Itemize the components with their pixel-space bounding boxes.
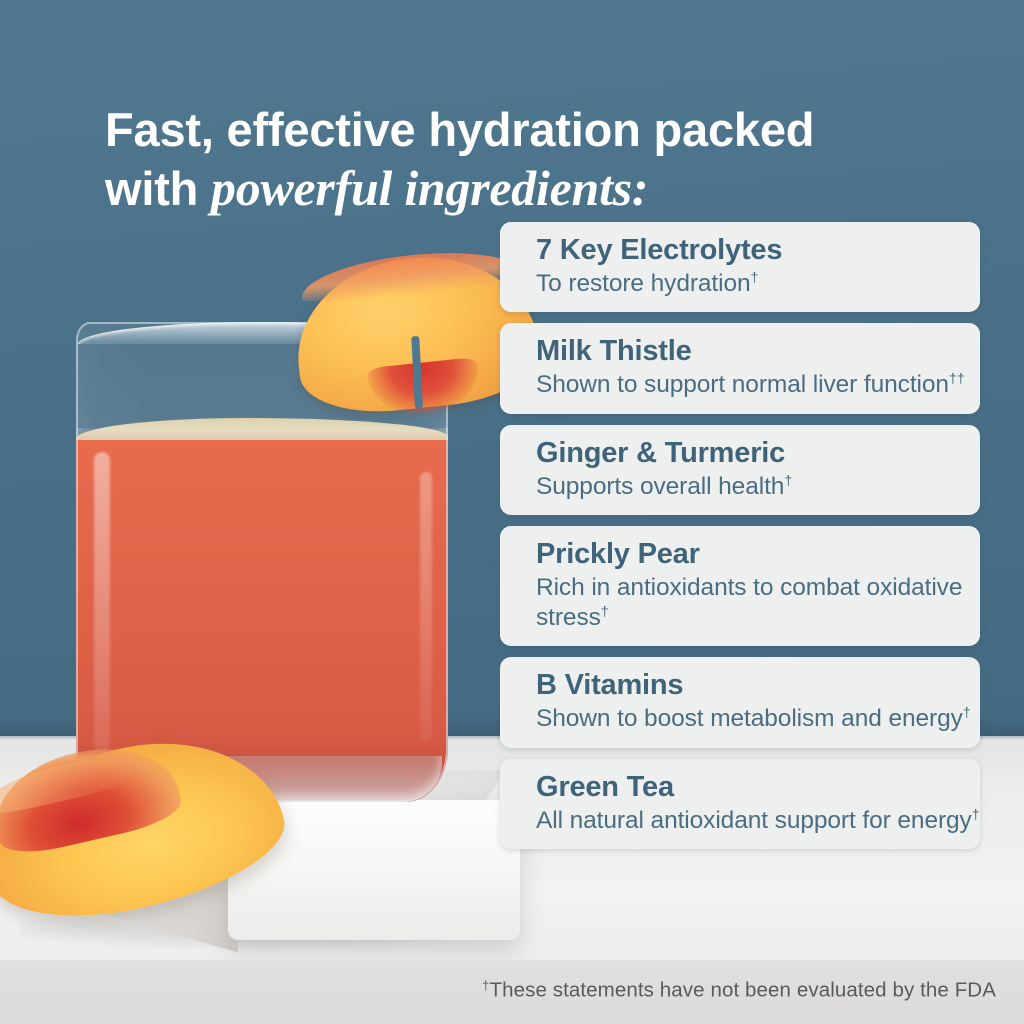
ingredient-title: Ginger & Turmeric (536, 437, 980, 470)
ingredient-description: All natural antioxidant support for ener… (536, 806, 980, 835)
ingredient-description: To restore hydration† (536, 269, 980, 298)
ingredient-card[interactable]: B Vitamins Shown to boost metabolism and… (500, 657, 980, 747)
ingredient-footnote-marker: † (601, 604, 609, 620)
ingredient-title: 7 Key Electrolytes (536, 234, 980, 267)
ingredient-description-text: Rich in antioxidants to combat oxidative… (536, 574, 962, 630)
ingredient-footnote-marker: † (784, 473, 792, 489)
ingredient-title: Prickly Pear (536, 538, 980, 571)
ingredient-title: Milk Thistle (536, 335, 980, 368)
ingredient-footnote-marker: † (751, 270, 759, 286)
ingredient-footnote-marker: † (963, 705, 971, 721)
ingredient-description: Shown to boost metabolism and energy† (536, 704, 980, 733)
ingredient-footnote-marker: † (972, 807, 980, 823)
ingredient-card[interactable]: Green Tea All natural antioxidant suppor… (500, 759, 980, 849)
product-ingredient-infographic: Fast, effective hydration packed with po… (0, 0, 1024, 1024)
ingredient-description-text: All natural antioxidant support for ener… (536, 807, 972, 834)
headline-line-2-plain: with (105, 162, 211, 215)
ingredient-description-text: Shown to support normal liver function (536, 371, 949, 398)
ingredient-description: Supports overall health† (536, 472, 980, 501)
ingredient-card-list: 7 Key Electrolytes To restore hydration†… (500, 222, 980, 849)
ingredient-description: Shown to support normal liver function†† (536, 370, 980, 399)
ingredient-card[interactable]: Ginger & Turmeric Supports overall healt… (500, 425, 980, 515)
ingredient-card[interactable]: 7 Key Electrolytes To restore hydration† (500, 222, 980, 312)
ingredient-description-text: Shown to boost metabolism and energy (536, 705, 963, 732)
ingredient-title: Green Tea (536, 771, 980, 804)
ingredient-description-text: To restore hydration (536, 270, 751, 297)
ingredient-title: B Vitamins (536, 669, 980, 702)
ingredient-card[interactable]: Prickly Pear Rich in antioxidants to com… (500, 526, 980, 646)
fda-disclaimer-text: These statements have not been evaluated… (489, 978, 996, 1001)
ingredient-description: Rich in antioxidants to combat oxidative… (536, 573, 980, 632)
headline-line-1: Fast, effective hydration packed (105, 103, 814, 156)
ingredient-card[interactable]: Milk Thistle Shown to support normal liv… (500, 323, 980, 413)
headline-line-2-emphasis: powerful ingredients: (211, 161, 648, 216)
ingredient-footnote-marker: †† (949, 372, 965, 388)
fda-disclaimer: †These statements have not been evaluate… (482, 978, 996, 1002)
headline: Fast, effective hydration packed with po… (105, 101, 965, 219)
ingredient-description-text: Supports overall health (536, 473, 784, 500)
glass-highlight-left (94, 452, 110, 752)
glass-highlight-right (420, 472, 432, 742)
